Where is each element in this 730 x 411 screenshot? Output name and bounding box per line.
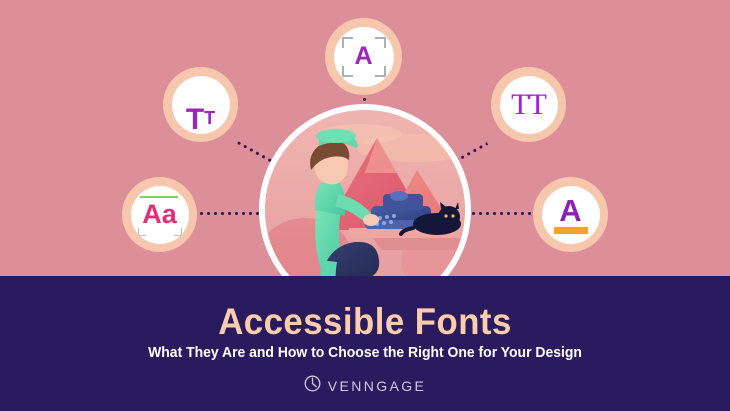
orange-underline-icon [554,227,588,234]
page-subtitle: What They Are and How to Choose the Righ… [26,344,705,362]
crop-corner-bottom-left-icon [342,66,353,77]
venngage-clock-logo-icon [304,375,321,397]
badge-glyph-small: T [204,104,215,132]
badge-letter-case-aa[interactable]: Aa [122,177,197,252]
badge-letter-a-crop-frame[interactable]: A [325,18,402,95]
badge-serif-tt[interactable]: TT [491,67,566,142]
badge-glyph: A [559,196,581,225]
crop-corner-top-left-icon [342,37,353,48]
badge-font-size-tt[interactable]: T T [163,67,238,142]
crop-corner-top-right-icon [375,37,386,48]
brand-lockup: VENNGAGE [0,375,730,397]
green-rule-icon [140,196,178,199]
badge-letter-a-underline[interactable]: A [533,177,608,252]
infographic-canvas: A T T TT Aa A Accessible Fonts What They… [0,0,730,411]
badge-glyph: Aa [142,201,177,228]
page-title: Accessible Fonts [22,302,708,342]
connector-right [470,212,533,215]
badge-glyph: A [354,44,372,69]
tick-bottom-right-icon [174,228,182,236]
brand-name: VENNGAGE [328,378,427,394]
badge-glyph-large: T [186,106,204,134]
tick-bottom-left-icon [138,228,146,236]
crop-corner-bottom-right-icon [375,66,386,77]
connector-left [198,212,260,215]
badge-glyph: TT [511,90,546,120]
